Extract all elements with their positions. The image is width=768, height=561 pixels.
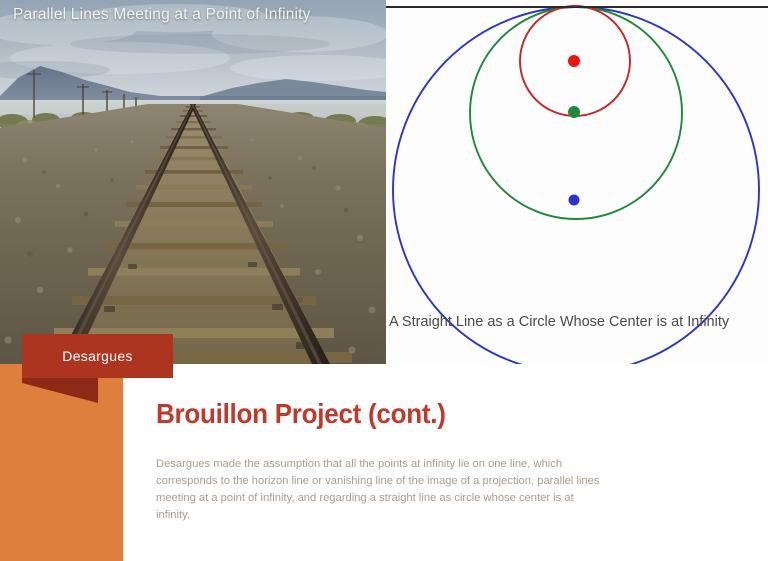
body-paragraph: Desargues made the assumption that all t…: [156, 456, 608, 524]
ribbon-fold-icon: [22, 378, 98, 403]
red-center-dot: [568, 55, 580, 67]
desargues-ribbon-label: Desargues: [62, 348, 132, 364]
straight-line-at-infinity: [386, 6, 768, 8]
desargues-ribbon: Desargues: [22, 334, 173, 378]
circles-diagram-panel: A Straight Line as a Circle Whose Center…: [386, 0, 768, 364]
railroad-photo: Parallel Lines Meeting at a Point of Inf…: [0, 0, 386, 364]
green-center-dot: [568, 106, 580, 118]
slide-canvas: Parallel Lines Meeting at a Point of Inf…: [0, 0, 768, 561]
tangent-circles-diagram: [386, 0, 768, 364]
page-title: Brouillon Project (cont.): [156, 398, 446, 430]
blue-center-dot: [569, 195, 580, 206]
content-area: Brouillon Project (cont.) Desargues made…: [123, 364, 768, 561]
railroad-photo-illustration: [0, 0, 386, 364]
photo-title: Parallel Lines Meeting at a Point of Inf…: [13, 6, 373, 25]
